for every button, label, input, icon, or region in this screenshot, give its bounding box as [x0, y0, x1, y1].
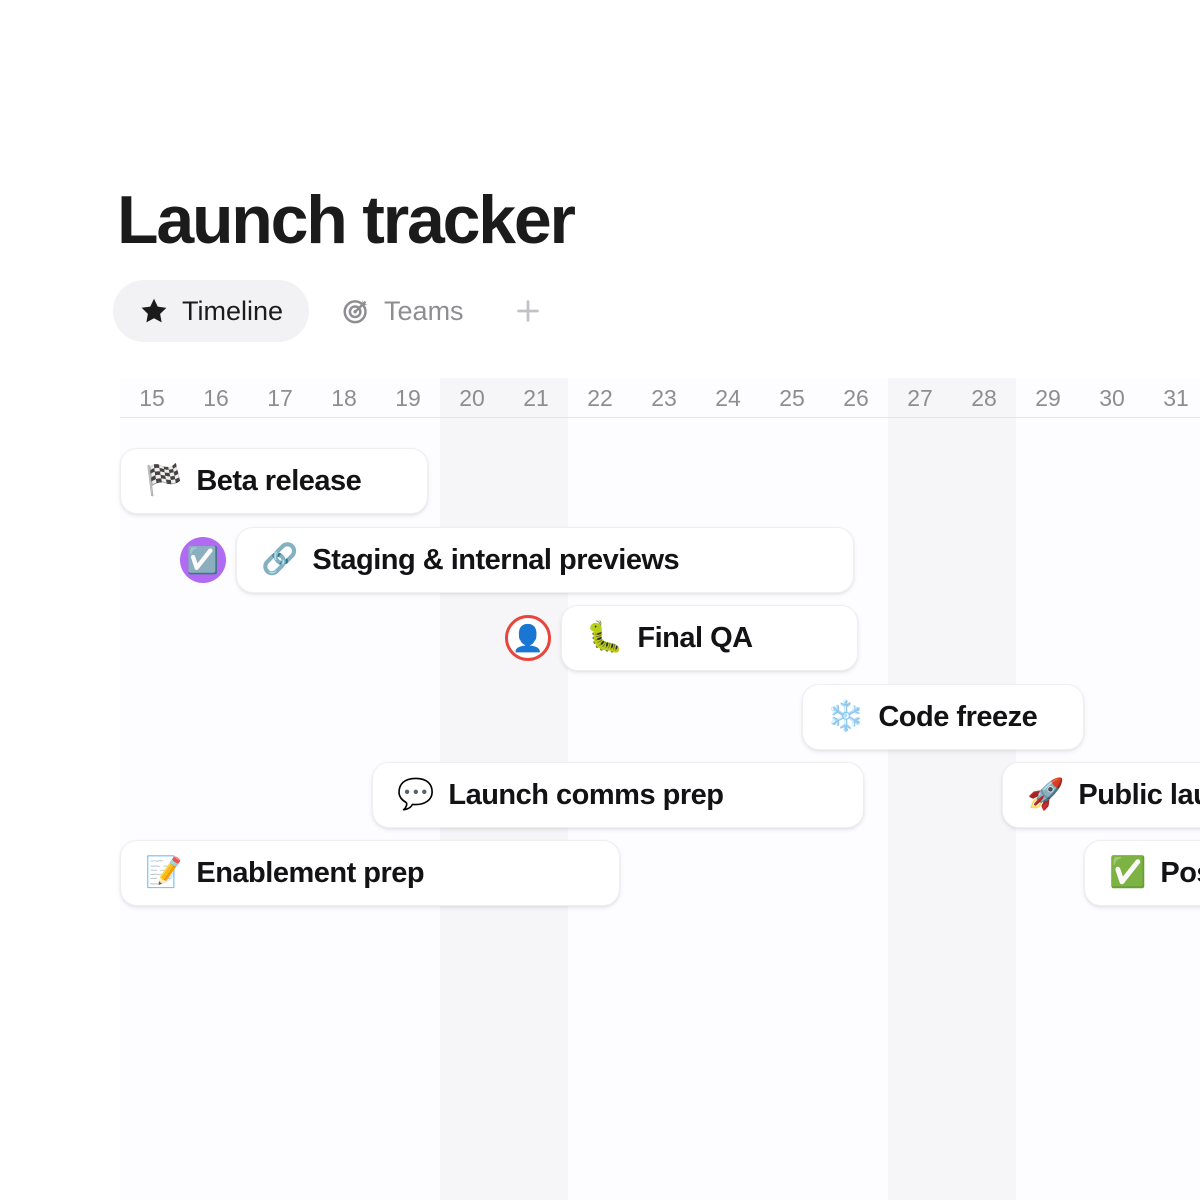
- ruler-day-21: 21: [504, 378, 568, 418]
- checkered-flag-icon: 🏁: [145, 466, 182, 496]
- ruler-day-30: 30: [1080, 378, 1144, 418]
- task-row: ❄️Code freeze: [802, 684, 1084, 750]
- ruler-day-22: 22: [568, 378, 632, 418]
- tab-label: Teams: [384, 296, 464, 327]
- ruler-day-28: 28: [952, 378, 1016, 418]
- task-bar[interactable]: 🔗Staging & internal previews: [236, 527, 854, 593]
- ruler-day-26: 26: [824, 378, 888, 418]
- person-avatar[interactable]: 👤: [505, 615, 551, 661]
- ruler-day-15: 15: [120, 378, 184, 418]
- task-row: ☑️🔗Staging & internal previews: [180, 527, 854, 593]
- ruler-day-24: 24: [696, 378, 760, 418]
- task-label: Final QA: [637, 622, 752, 655]
- task-bar[interactable]: 🚀Public launch: [1002, 762, 1200, 828]
- task-label: Beta release: [196, 465, 361, 498]
- ruler-day-16: 16: [184, 378, 248, 418]
- ruler-day-25: 25: [760, 378, 824, 418]
- memo-icon: 📝: [145, 858, 182, 888]
- task-bar[interactable]: 📝Enablement prep: [120, 840, 620, 906]
- date-ruler: 1516171819202122232425262728293031: [120, 378, 1200, 418]
- target-icon: [341, 296, 371, 326]
- task-label: Code freeze: [878, 701, 1037, 734]
- page-title: Launch tracker: [117, 186, 574, 254]
- ruler-day-17: 17: [248, 378, 312, 418]
- star-icon: [139, 296, 169, 326]
- task-bar[interactable]: ✅Post-launch review: [1084, 840, 1200, 906]
- check-mark-button-icon: ✅: [1109, 858, 1146, 888]
- add-tab-button[interactable]: [502, 282, 554, 340]
- task-row: 🚀Public launch: [1002, 762, 1200, 828]
- task-bar[interactable]: 🏁Beta release: [120, 448, 428, 514]
- task-label: Staging & internal previews: [312, 544, 679, 577]
- tab-timeline[interactable]: Timeline: [113, 280, 309, 342]
- bug-icon: 🐛: [586, 623, 623, 653]
- task-label: Public launch: [1078, 779, 1200, 812]
- task-bar[interactable]: 🐛Final QA: [561, 605, 858, 671]
- ruler-day-23: 23: [632, 378, 696, 418]
- speech-balloon-icon: 💬: [397, 780, 434, 810]
- task-label: Enablement prep: [196, 857, 424, 890]
- snowflake-icon: ❄️: [827, 702, 864, 732]
- ruler-day-27: 27: [888, 378, 952, 418]
- weekend-column: [888, 378, 952, 1200]
- ruler-day-18: 18: [312, 378, 376, 418]
- task-bar[interactable]: 💬Launch comms prep: [372, 762, 864, 828]
- task-label: Post-launch review: [1160, 857, 1200, 890]
- task-bar[interactable]: ❄️Code freeze: [802, 684, 1084, 750]
- tab-label: Timeline: [182, 296, 283, 327]
- ruler-day-29: 29: [1016, 378, 1080, 418]
- tab-bar: TimelineTeams: [113, 280, 554, 342]
- link-icon: 🔗: [261, 545, 298, 575]
- ruler-day-31: 31: [1144, 378, 1200, 418]
- task-row: ✅Post-launch review: [1084, 840, 1200, 906]
- ruler-day-20: 20: [440, 378, 504, 418]
- task-row: 🏁Beta release: [120, 448, 428, 514]
- launch-tracker-app: Launch tracker TimelineTeams 15161718192…: [0, 0, 1200, 1200]
- ruler-day-19: 19: [376, 378, 440, 418]
- task-row: 📝Enablement prep: [120, 840, 620, 906]
- rocket-icon: 🚀: [1027, 780, 1064, 810]
- task-row: 👤🐛Final QA: [505, 605, 858, 671]
- task-label: Launch comms prep: [448, 779, 723, 812]
- task-row: 💬Launch comms prep: [372, 762, 864, 828]
- tab-teams[interactable]: Teams: [315, 280, 490, 342]
- ballot-check-avatar[interactable]: ☑️: [180, 537, 226, 583]
